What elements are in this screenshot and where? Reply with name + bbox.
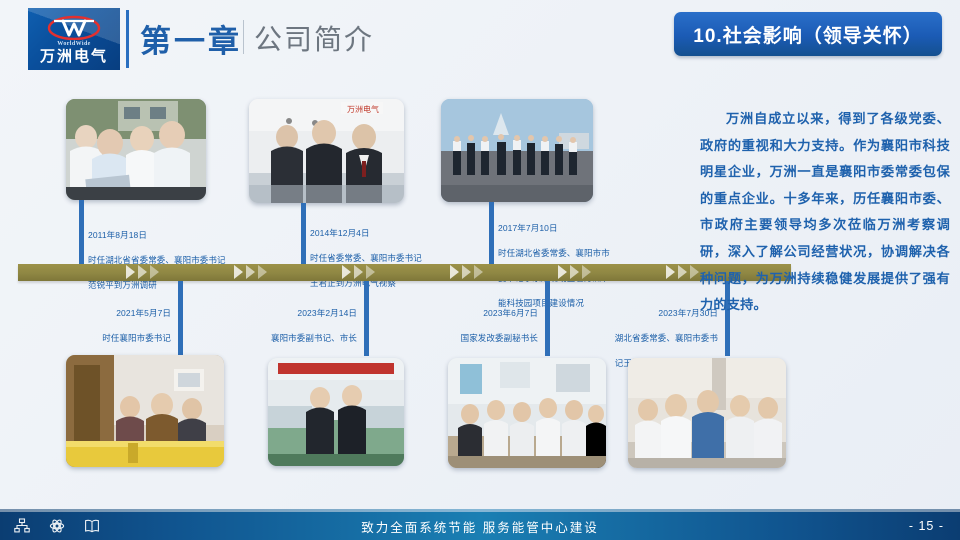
photo-2017-site-visit: [441, 99, 593, 202]
photo-2023-07-plant: [628, 358, 786, 468]
page-number: - 15 -: [909, 519, 944, 533]
topic-badge: 10.社会影响（领导关怀）: [674, 12, 942, 56]
timeline-connector-2021: [178, 281, 183, 356]
caption-line2: 襄阳市委副书记、市长: [232, 332, 357, 345]
timeline-chevrons: [342, 264, 388, 281]
slide-footer: 致力全面系统节能 服务能管中心建设 - 15 -: [0, 512, 960, 540]
logo-chinese-text: 万洲电气: [40, 49, 108, 64]
photo-2023-06-meeting: [448, 358, 606, 468]
caption-line2: 时任襄阳市委书记: [38, 332, 171, 345]
body-paragraph: 万洲自成立以来，得到了各级党委、政府的重视和大力支持。作为襄阳市科技明星企业，万…: [700, 106, 950, 319]
photo-2021-inspection: [66, 355, 224, 467]
caption-date: 2014年12月4日: [310, 227, 490, 240]
title-separator: [243, 20, 244, 54]
footer-slogan: 致力全面系统节能 服务能管中心建设: [0, 517, 960, 536]
timeline-connector-2023-02: [364, 281, 369, 356]
slide-header: WorldWide 万洲电气 第一章 公司简介 10.社会影响（领导关怀）: [0, 0, 960, 78]
photo-2023-02-factory: [268, 358, 404, 466]
caption-line2: 湖北省委常委、襄阳市委书: [578, 332, 718, 345]
logo-english-text: WorldWide: [57, 41, 91, 47]
caption-date: 2023年2月14日: [232, 307, 357, 320]
timeline-connector-2014: [301, 203, 306, 264]
company-logo: WorldWide 万洲电气: [28, 8, 120, 70]
timeline-connector-2023-06: [545, 281, 550, 356]
section-title: 公司简介: [254, 18, 374, 58]
caption-date: 2011年8月18日: [88, 229, 298, 242]
caption-date: 2023年6月7日: [418, 307, 538, 320]
caption-date: 2017年7月10日: [498, 222, 624, 235]
caption-line2: 时任省委常委、襄阳市委书记: [310, 252, 490, 265]
caption-date: 2023年7月30日: [578, 307, 718, 320]
timeline-chevrons: [126, 264, 172, 281]
timeline-chevrons: [450, 264, 496, 281]
caption-date: 2021年5月7日: [38, 307, 171, 320]
caption-line2: 国家发改委副秘书长: [418, 332, 538, 345]
timeline-chevrons: [234, 264, 280, 281]
photo-2011-inspection: [66, 99, 206, 200]
topic-badge-label: 10.社会影响（领导关怀）: [693, 21, 922, 48]
svg-text:万洲电气: 万洲电气: [347, 104, 379, 114]
caption-2011: 2011年8月18日 时任湖北省省委常委、襄阳市委书记 范锐平到万洲调研: [88, 216, 298, 304]
caption-line2: 时任湖北省委常委、襄阳市市: [498, 247, 624, 260]
timeline-chevrons: [558, 264, 604, 281]
timeline-bar: [18, 264, 791, 281]
caption-2014: 2014年12月4日 时任省委常委、襄阳市委书记 王君正到万洲电气视察: [310, 214, 490, 302]
photo-2014-inspection: 万洲电气: [249, 99, 404, 203]
wanzhou-w-logo-icon: [47, 15, 101, 40]
timeline-connector-2011: [79, 200, 84, 264]
chapter-title: 第一章: [140, 16, 242, 61]
header-accent-bar: [126, 10, 129, 68]
